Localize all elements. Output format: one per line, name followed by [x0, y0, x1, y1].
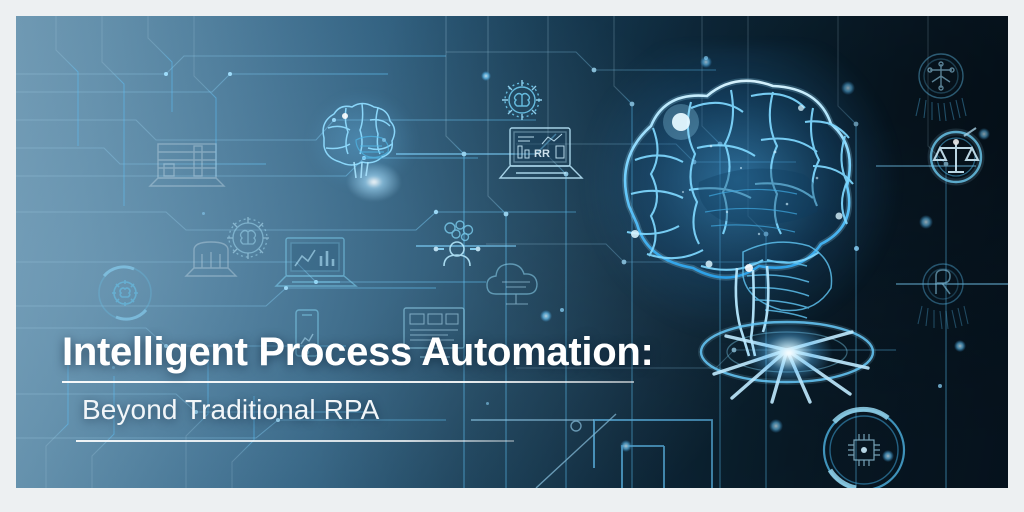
badge-network-icon — [910, 48, 972, 122]
badge-scales-icon — [924, 126, 988, 188]
sparkle-dot — [938, 384, 942, 388]
sparkle-dot — [382, 138, 386, 142]
page-subtitle: Beyond Traditional RPA — [82, 396, 654, 424]
user-profile-icon — [430, 216, 484, 272]
banner-frame: RR — [0, 0, 1024, 512]
title-block: Intelligent Process Automation: Beyond T… — [62, 332, 654, 442]
database-icon — [180, 234, 242, 286]
hero-banner: RR — [16, 16, 1008, 488]
pedestal-starburst — [746, 322, 832, 384]
gear-cog-icon — [500, 78, 544, 122]
title-underline-rule — [62, 381, 634, 383]
laptop-rr-icon: RR — [498, 124, 584, 184]
sparkle-dot — [560, 308, 564, 312]
sparkle-dot — [704, 56, 708, 60]
laptop-screen-label: RR — [534, 148, 550, 160]
small-brain-starburst — [346, 162, 402, 202]
sparkle-dot — [854, 246, 859, 251]
hud-ring-icon — [812, 400, 916, 488]
subtitle-underline-rule — [76, 440, 514, 442]
laptop-chart-icon — [274, 232, 358, 294]
server-rack-icon — [144, 138, 230, 194]
sparkle-dot — [202, 212, 205, 215]
page-title: Intelligent Process Automation: — [62, 332, 654, 372]
cloud-icon — [484, 254, 554, 308]
badge-robot-icon — [912, 256, 974, 330]
circular-gear-hud-icon — [94, 262, 156, 324]
